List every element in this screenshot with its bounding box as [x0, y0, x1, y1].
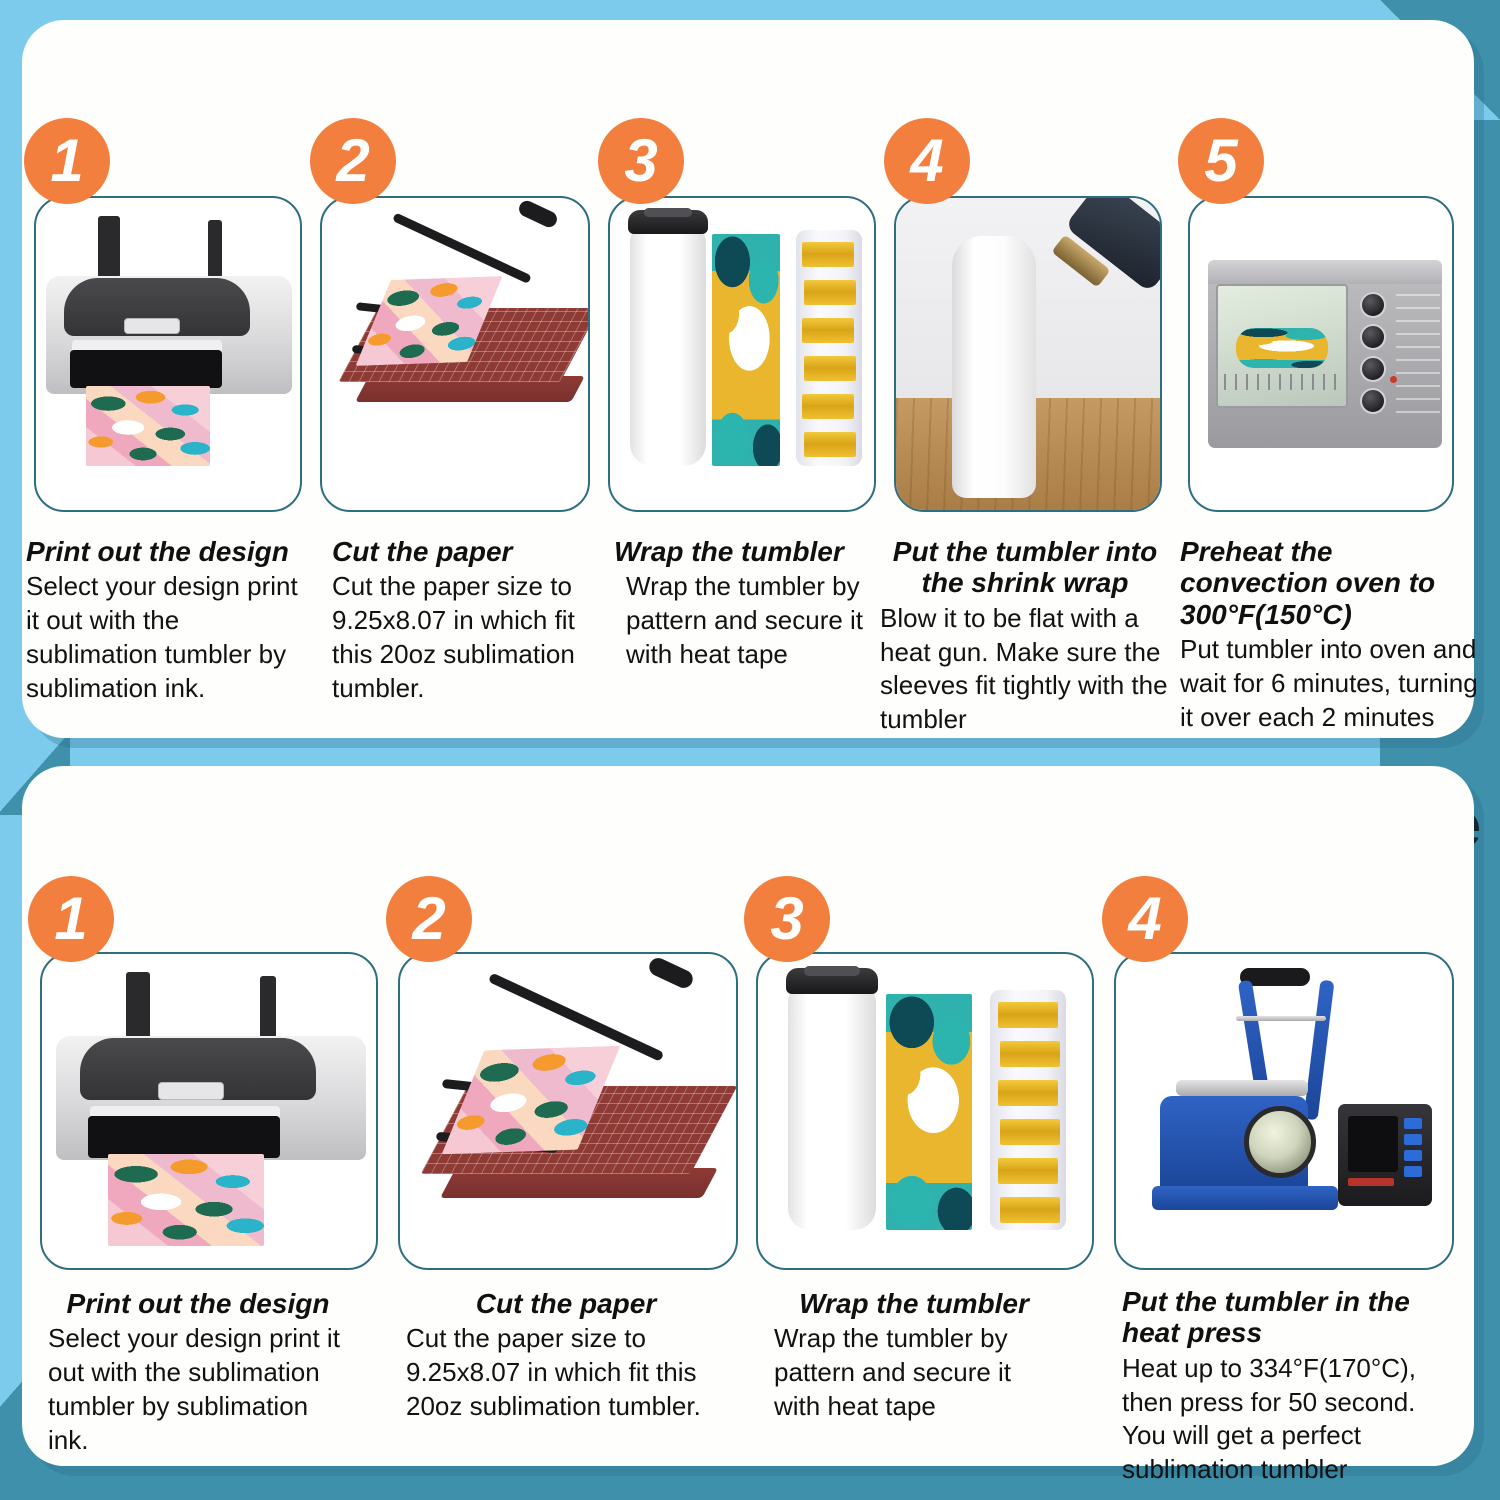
oven-step-5-badge: 5	[1178, 118, 1264, 204]
heat-tape-roll	[990, 990, 1066, 1230]
press-step-2-body: Cut the paper size to 9.25x8.07 in which…	[406, 1322, 726, 1423]
oven-step-4-badge: 4	[884, 118, 970, 204]
tumbler-body	[788, 986, 876, 1230]
press-step-1-heading: Print out the design	[48, 1288, 348, 1319]
paper-trimmer-illustration	[400, 954, 736, 1268]
heat-press-machine-illustration	[1116, 954, 1452, 1268]
tropical-wrap-paper	[712, 234, 780, 466]
oven-step-3-heading: Wrap the tumbler	[614, 536, 872, 567]
press-button-1[interactable]	[1404, 1118, 1422, 1129]
press-step-4-heading: Put the tumbler in the heat press	[1122, 1286, 1454, 1349]
press-step-3-badge: 3	[744, 876, 830, 962]
oven-step-2-image-panel	[320, 196, 590, 512]
oven-step-2-caption: Cut the paper Cut the paper size to 9.25…	[332, 536, 612, 706]
oven-step-1-image-panel	[34, 196, 302, 512]
printer-illustration	[42, 954, 376, 1268]
press-control-unit	[1338, 1104, 1432, 1206]
shrink-wrap-sleeve	[952, 236, 1036, 498]
oven-knob-4[interactable]	[1360, 388, 1386, 414]
oven-rack	[1224, 374, 1342, 390]
press-button-2[interactable]	[1404, 1134, 1422, 1145]
shrink-wrap-illustration	[896, 198, 1160, 510]
press-step-4-body: Heat up to 334°F(170°C), then press for …	[1122, 1352, 1454, 1487]
press-step-3-image-panel	[756, 952, 1094, 1270]
press-button-4[interactable]	[1404, 1166, 1422, 1177]
paper-trimmer-illustration	[322, 198, 588, 510]
oven-step-1-body: Select your design print it out with the…	[26, 570, 316, 705]
oven-step-4-body: Blow it to be flat with a heat gun. Make…	[880, 602, 1170, 737]
press-step-1-body: Select your design print it out with the…	[48, 1322, 348, 1457]
oven-step-5-image-panel	[1188, 196, 1454, 512]
oven-step-5-heading: Preheat the convection oven to 300°F(150…	[1180, 536, 1480, 630]
press-step-1-caption: Print out the design Select your design …	[48, 1288, 348, 1458]
tumbler-and-heat-tape-illustration	[610, 198, 874, 510]
press-step-4-caption: Put the tumbler in the heat press Heat u…	[1122, 1286, 1454, 1487]
oven-step-3-badge: 3	[598, 118, 684, 204]
press-step-3-caption: Wrap the tumbler Wrap the tumbler by pat…	[764, 1288, 1064, 1424]
oven-knob-2[interactable]	[1360, 324, 1386, 350]
press-step-1-image-panel	[40, 952, 378, 1270]
heat-tape-roll	[796, 230, 862, 466]
press-barrel	[1244, 1106, 1316, 1178]
oven-knob-1[interactable]	[1360, 292, 1386, 318]
oven-step-4-caption: Put the tumbler into the shrink wrap Blo…	[880, 536, 1170, 737]
oven-knob-3[interactable]	[1360, 356, 1386, 382]
press-step-3-heading: Wrap the tumbler	[764, 1288, 1064, 1319]
oven-step-5-body: Put tumbler into oven and wait for 6 min…	[1180, 633, 1480, 734]
press-base	[1152, 1186, 1338, 1210]
oven-step-3-caption: Wrap the tumbler Wrap the tumbler by pat…	[614, 536, 872, 672]
press-step-2-image-panel	[398, 952, 738, 1270]
oven-step-4-image-panel	[894, 196, 1162, 512]
tropical-print-sheet	[108, 1154, 264, 1246]
printer-illustration	[36, 198, 300, 510]
tumbler-in-oven	[1236, 328, 1328, 368]
press-step-2-caption: Cut the paper Cut the paper size to 9.25…	[406, 1288, 726, 1424]
press-step-4-image-panel	[1114, 952, 1454, 1270]
oven-step-3-image-panel	[608, 196, 876, 512]
press-label-strip	[1348, 1178, 1394, 1186]
press-heating-element	[1176, 1080, 1308, 1096]
oven-step-1-caption: Print out the design Select your design …	[26, 536, 316, 706]
press-step-2-badge: 2	[386, 876, 472, 962]
press-step-4-badge: 4	[1102, 876, 1188, 962]
oven-step-5-caption: Preheat the convection oven to 300°F(150…	[1180, 536, 1480, 734]
oven-step-2-heading: Cut the paper	[332, 536, 612, 567]
oven-step-2-body: Cut the paper size to 9.25x8.07 in which…	[332, 570, 612, 705]
press-button-3[interactable]	[1404, 1150, 1422, 1161]
press-step-3-body: Wrap the tumbler by pattern and secure i…	[764, 1322, 1064, 1423]
oven-step-2-badge: 2	[310, 118, 396, 204]
convection-oven-illustration	[1190, 198, 1452, 510]
oven-power-indicator	[1390, 376, 1397, 383]
tumbler-and-heat-tape-illustration	[758, 954, 1092, 1268]
press-step-1-badge: 1	[28, 876, 114, 962]
oven-step-4-heading: Put the tumbler into the shrink wrap	[880, 536, 1170, 599]
tumbler-body	[630, 226, 706, 466]
oven-step-1-heading: Print out the design	[26, 536, 316, 567]
press-display	[1348, 1116, 1398, 1172]
tropical-wrap-paper	[886, 994, 972, 1230]
oven-step-3-body: Wrap the tumbler by pattern and secure i…	[614, 570, 872, 671]
oven-step-1-badge: 1	[24, 118, 110, 204]
press-step-2-heading: Cut the paper	[406, 1288, 726, 1319]
tropical-print-sheet	[86, 386, 210, 466]
